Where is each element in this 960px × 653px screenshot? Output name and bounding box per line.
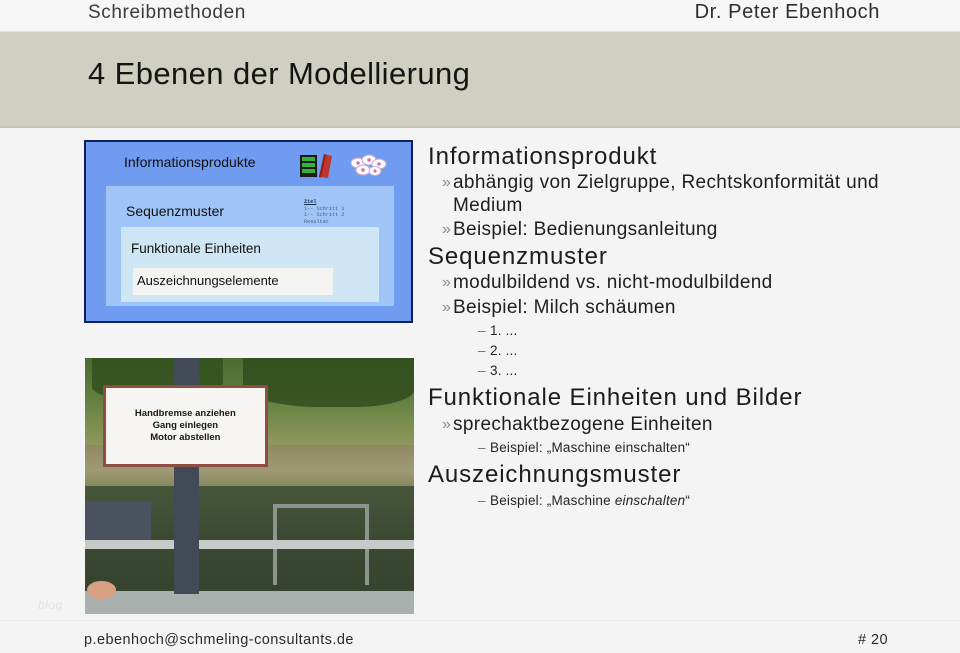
bullet-chevron-icon: » [428,297,453,319]
sub-list-item-text: 2. ... [490,341,940,361]
photo-deck [85,591,414,614]
section-heading-funktionale-einheiten-und-bilder: Funktionale Einheiten und Bilder [428,384,940,412]
footer-email: p.ebenhoch@schmeling-consultants.de [84,632,354,648]
header-course-title: Schreibmethoden [88,2,246,24]
sign-line: Motor abstellen [150,433,220,443]
title-band: 4 Ebenen der Modellierung [0,31,960,128]
list-item-text: abhängig von Zielgruppe, Rechtskonformit… [453,172,940,216]
sub-list-item-text: Beispiel: „Maschine einschalten“ [490,438,940,458]
bullet-chevron-icon: » [428,272,453,294]
bullet-chevron-icon: » [428,219,453,241]
photo-machinery [85,501,151,539]
list-item: » modulbildend vs. nicht-modulbildend [428,272,940,294]
footer-divider [0,620,960,621]
sign-line: Gang einlegen [153,421,218,431]
sign-line: Handbremse anziehen [135,409,236,419]
diagram-label-sequenzmuster: Sequenzmuster [126,203,224,219]
footer-page-number: # 20 [858,632,888,648]
photo-hand [87,581,117,599]
page-title: 4 Ebenen der Modellierung [88,56,470,92]
sub-list-text-emphasis: einschalten [615,493,686,508]
photo-barrier-bar [85,540,414,549]
sub-list-item: – 3. ... [428,361,940,381]
photo-shrub-right [243,358,414,407]
ferry-landing-photo: Handbremse anziehen Gang einlegen Motor … [85,358,414,614]
layer-model-diagram: Informationsprodukte Sequenzmuster Funkt… [84,140,413,323]
diagram-label-auszeichnungselemente: Auszeichnungselemente [137,273,279,288]
slide-header: Schreibmethoden Dr. Peter Ebenhoch [0,0,960,29]
list-item-text: Beispiel: Milch schäumen [453,297,940,319]
diagram-mini-text-block: Ziel 1-- Schritt 1 1-- Schritt 2 Resulta… [304,199,366,229]
section-heading-sequenzmuster: Sequenzmuster [428,243,940,271]
sub-list-item: – 1. ... [428,321,940,341]
watermark: blog [38,598,63,612]
section-heading-auszeichnungsmuster: Auszeichnungsmuster [428,461,940,489]
list-item-text: modulbildend vs. nicht-modulbildend [453,272,940,294]
diagram-label-funktionale-einheiten: Funktionale Einheiten [131,241,261,256]
mini-text-line: Resultat [304,219,366,226]
bullet-dash-icon: – [428,361,490,381]
list-item: » abhängig von Zielgruppe, Rechtskonform… [428,172,940,216]
slide: Schreibmethoden Dr. Peter Ebenhoch 4 Ebe… [0,0,960,653]
section-heading-informationsprodukt: Informationsprodukt [428,143,940,171]
bullet-dash-icon: – [428,341,490,361]
sub-list-item-text: 3. ... [490,361,940,381]
list-item: » Beispiel: Bedienungsanleitung [428,219,940,241]
sub-list-item-text: Beispiel: „Maschine einschalten“ [490,491,940,511]
books-icon [299,153,335,178]
bullet-dash-icon: – [428,491,490,511]
sub-list-item: – 2. ... [428,341,940,361]
diagram-label-informationsprodukte: Informationsprodukte [124,154,256,170]
sub-list-item: – Beispiel: „Maschine einschalten“ [428,491,940,511]
sub-list-text-prefix: Beispiel: „Maschine [490,493,615,508]
list-item-text: Beispiel: Bedienungsanleitung [453,219,940,241]
sub-list-item-text: 1. ... [490,321,940,341]
list-item-text: sprechaktbezogene Einheiten [453,414,940,436]
header-author: Dr. Peter Ebenhoch [695,1,880,24]
list-item: » sprechaktbezogene Einheiten [428,414,940,436]
bullet-chevron-icon: » [428,172,453,194]
content-column: Informationsprodukt » abhängig von Zielg… [428,143,940,511]
sub-list-item: – Beispiel: „Maschine einschalten“ [428,438,940,458]
photo-instruction-sign: Handbremse anziehen Gang einlegen Motor … [103,385,268,467]
cloud-network-icon [348,154,388,178]
sub-list-text-suffix: “ [685,493,690,508]
bullet-chevron-icon: » [428,414,453,436]
bullet-dash-icon: – [428,321,490,341]
bullet-dash-icon: – [428,438,490,458]
list-item: » Beispiel: Milch schäumen [428,297,940,319]
